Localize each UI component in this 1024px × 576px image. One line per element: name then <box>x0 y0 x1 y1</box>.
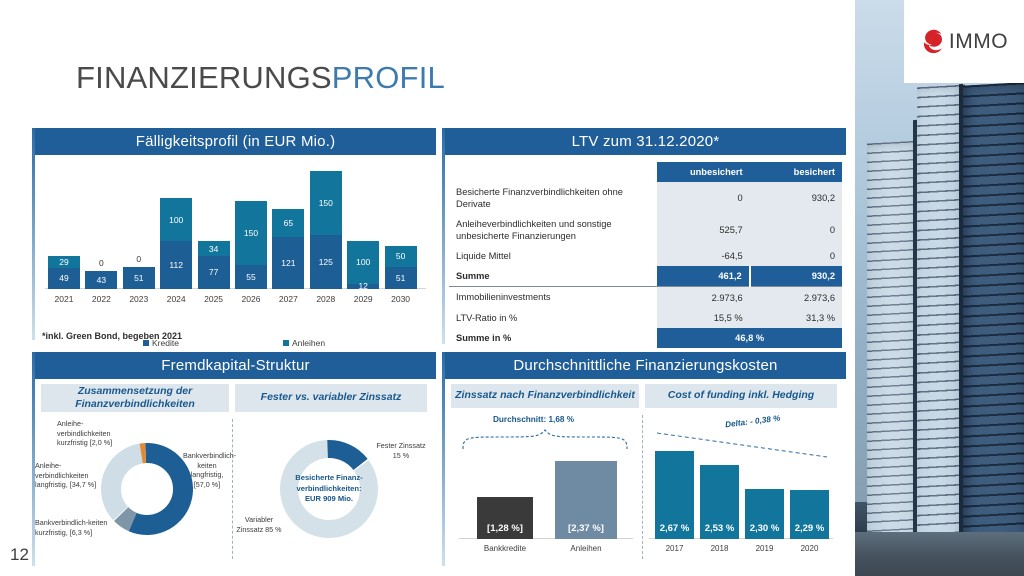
ltv-row-merged-value: 46,8 % <box>657 328 842 348</box>
bar-segment-anleihen: 65 <box>272 209 304 237</box>
ltv-cell-unbesichert: 525,7 <box>657 214 749 246</box>
bar-zero-label-anleihen: 0 <box>123 254 155 264</box>
bar-x-label: 2023 <box>123 289 155 304</box>
s-swirl-icon <box>920 28 946 56</box>
table-row: Summe in %46,8 % <box>449 328 842 348</box>
ltv-table: unbesichert besichert Besicherte Finanzv… <box>449 162 842 348</box>
maturity-bar-2021: 29492021 <box>48 256 80 289</box>
panel-fremdkapital-heading: Fremdkapital-Struktur <box>35 352 436 379</box>
bar-x-label: 2026 <box>235 289 267 304</box>
bar-x-label: 2030 <box>385 289 417 304</box>
ltv-cell-besichert: 0 <box>750 214 842 246</box>
zinssatz-bar-value: [1,28 %] <box>477 523 533 534</box>
bar-segment-kredite: 125 <box>310 235 342 289</box>
zinssatz-bar-bankkredite: [1,28 %]Bankkredite <box>477 497 533 539</box>
bar-x-label: 2021 <box>48 289 80 304</box>
cof-bar-2018: 2,53 %2018 <box>700 465 739 539</box>
cof-bar-value: 2,30 % <box>745 523 784 534</box>
cof-bar-value: 2,53 % <box>700 523 739 534</box>
bar-segment-kredite: 49 <box>48 268 80 289</box>
ltv-row-label: Summe <box>449 266 657 287</box>
bar-segment-anleihen: 100 <box>347 241 379 284</box>
cof-bar-x-label: 2017 <box>655 539 694 553</box>
panel-ltv: LTV zum 31.12.2020* unbesichert besicher… <box>442 128 846 344</box>
cof-bar-x-label: 2018 <box>700 539 739 553</box>
ltv-cell-unbesichert: 2.973,6 <box>657 287 749 308</box>
zinssatz-bar-anleihen: [2,37 %]Anleihen <box>555 461 617 539</box>
bar-x-label: 2028 <box>310 289 342 304</box>
subhead-zusammensetzung-text: Zusammensetzung der Finanzverbindlichkei… <box>45 385 225 411</box>
bar-segment-anleihen: 29 <box>48 256 80 268</box>
ltv-table-body: Besicherte Finanzverbindlichkeiten ohne … <box>449 182 842 348</box>
cof-bar-2019: 2,30 %2019 <box>745 489 784 539</box>
page-title-main: FINANZIERUNGS <box>76 60 332 95</box>
maturity-bar-2023: 0512023 <box>123 267 155 289</box>
ltv-cell-unbesichert: -64,5 <box>657 246 749 266</box>
bar-x-label: 2022 <box>85 289 117 304</box>
donut-zinssatz: Besicherte Finanz- verbindlichkeiten: EU… <box>233 415 429 565</box>
page-title: FINANZIERUNGSPROFIL <box>76 60 445 96</box>
tower-middle <box>917 85 965 576</box>
donut-label-bank-langfristig: Bankverbindlich-keiten langfristig, [57,… <box>183 451 231 490</box>
donut-center-line3: EUR 909 Mio. <box>279 494 379 505</box>
donut-center-line2: verbindlichkeiten: <box>279 484 379 495</box>
building-photo <box>855 0 1024 576</box>
cof-bar-x-label: 2019 <box>745 539 784 553</box>
maturity-bar-2025: 34772025 <box>198 241 230 289</box>
ltv-row-label: Anleiheverbindlichkeiten und sonstige un… <box>449 214 657 246</box>
cost-of-funding-bar-chart: Delta: - 0,38 % 2,67 %20172,53 %20182,30… <box>647 413 839 563</box>
ltv-cell-besichert: 2.973,6 <box>750 287 842 308</box>
maturity-bar-2030: 50512030 <box>385 246 417 289</box>
ltv-col-besichert: besichert <box>750 162 842 182</box>
ltv-row-label: Besicherte Finanzverbindlichkeiten ohne … <box>449 182 657 214</box>
bar-segment-kredite: 51 <box>385 267 417 289</box>
bar-segment-kredite: 112 <box>160 241 192 289</box>
cof-bar-value: 2,67 % <box>655 523 694 534</box>
maturity-bar-2027: 651212027 <box>272 209 304 289</box>
logo-wordmark: IMMO <box>949 30 1008 54</box>
donut-label-anleihe-langfristig: Anleihe-verbindlichkeiten langfristig, [… <box>35 461 109 490</box>
maturity-bar-chart: 2949202104320220512023100112202434772025… <box>35 155 436 311</box>
ltv-row-label: Liquide Mittel <box>449 246 657 266</box>
maturity-bar-2026: 150552026 <box>235 201 267 289</box>
ltv-col-unbesichert: unbesichert <box>657 162 749 182</box>
subhead-fester-variabler-text: Fester vs. variabler Zinssatz <box>261 391 402 404</box>
subhead-fester-variabler: Fester vs. variabler Zinssatz <box>235 384 427 412</box>
panel-ltv-heading: LTV zum 31.12.2020* <box>445 128 846 155</box>
panel-finanzierungskosten: Durchschnittliche Finanzierungskosten Zi… <box>442 352 846 566</box>
zinssatz-bar-x-label: Bankkredite <box>477 539 533 553</box>
table-row: Besicherte Finanzverbindlichkeiten ohne … <box>449 182 842 214</box>
cof-bar-x-label: 2020 <box>790 539 829 553</box>
brace-icon <box>461 429 631 451</box>
panel-fremdkapital-body: Zusammensetzung der Finanzverbindlichkei… <box>35 379 436 566</box>
donut-label-fester-zinssatz: Fester Zinssatz 15 % <box>373 441 429 460</box>
bar-segment-kredite: 121 <box>272 237 304 289</box>
subhead-cost-of-funding: Cost of funding inkl. Hedging <box>645 384 837 408</box>
table-row: Immobilieninvestments2.973,62.973,6 <box>449 287 842 308</box>
table-row: Liquide Mittel-64,50 <box>449 246 842 266</box>
donut-label-anleihe-kurzfristig: Anleihe-verbindlichkeiten kurzfristig [2… <box>57 419 129 448</box>
bar-x-label: 2025 <box>198 289 230 304</box>
panel-maturity-heading: Fälligkeitsprofil (in EUR Mio.) <box>35 128 436 155</box>
subhead-cost-of-funding-text: Cost of funding inkl. Hedging <box>668 389 814 402</box>
ltv-cell-besichert: 0 <box>750 246 842 266</box>
zinssatz-bar-value: [2,37 %] <box>555 523 617 534</box>
legend-item-anleihen: Anleihen <box>283 338 325 348</box>
ltv-cell-besichert: 930,2 <box>750 182 842 214</box>
donut-center-label: Besicherte Finanz- verbindlichkeiten: EU… <box>279 473 379 505</box>
panel-kosten-body: Zinssatz nach Finanzverbindlichkeit Cost… <box>445 379 846 566</box>
panel-maturity-profile: Fälligkeitsprofil (in EUR Mio.) 29492021… <box>32 128 436 340</box>
bar-segment-kredite: 43 <box>85 271 117 289</box>
panel-kosten-heading: Durchschnittliche Finanzierungskosten <box>445 352 846 379</box>
donut-center-line1: Besicherte Finanz- <box>279 473 379 484</box>
legend-label-anleihen: Anleihen <box>292 338 325 348</box>
table-row: Summe461,2930,2 <box>449 266 842 287</box>
panel-fremdkapital: Fremdkapital-Struktur Zusammensetzung de… <box>32 352 436 566</box>
bar-x-label: 2029 <box>347 289 379 304</box>
panel-maturity-body: 2949202104320220512023100112202434772025… <box>35 155 436 340</box>
bar-x-label: 2024 <box>160 289 192 304</box>
panel-ltv-body: unbesichert besichert Besicherte Finanzv… <box>445 155 846 362</box>
cof-bar-value: 2,29 % <box>790 523 829 534</box>
table-header-row: unbesichert besichert <box>449 162 842 182</box>
bar-x-label: 2027 <box>272 289 304 304</box>
maturity-bar-2028: 1501252028 <box>310 171 342 289</box>
maturity-bar-2029: 100122029 <box>347 241 379 289</box>
page-title-accent: PROFIL <box>332 60 445 95</box>
table-row: LTV-Ratio in %15,5 %31,3 % <box>449 308 842 328</box>
donut-label-variabler-zinssatz: Variabler Zinssatz 85 % <box>235 515 283 534</box>
zinssatz-annotation: Durchschnitt: 1,68 % <box>493 415 574 424</box>
cof-bar-2017: 2,67 %2017 <box>655 451 694 539</box>
bar-segment-anleihen: 150 <box>310 171 342 235</box>
kosten-divider <box>642 415 643 559</box>
ltv-row-label: LTV-Ratio in % <box>449 308 657 328</box>
bar-segment-anleihen: 34 <box>198 241 230 256</box>
ltv-row-label: Immobilieninvestments <box>449 287 657 308</box>
slide-root: IMMO FINANZIERUNGSPROFIL 12 Fälligkeitsp… <box>0 0 1024 576</box>
page-number: 12 <box>10 545 29 565</box>
ltv-row-label: Summe in % <box>449 328 657 348</box>
bar-segment-kredite: 55 <box>235 265 267 289</box>
ltv-cell-unbesichert: 461,2 <box>657 266 749 287</box>
bar-segment-kredite: 51 <box>123 267 155 289</box>
bar-segment-kredite: 77 <box>198 256 230 289</box>
ltv-cell-besichert: 930,2 <box>750 266 842 287</box>
ltv-cell-besichert: 31,3 % <box>750 308 842 328</box>
maturity-footnote: *inkl. Green Bond, begeben 2021 <box>42 331 182 341</box>
tower-right <box>963 82 1024 576</box>
legend-swatch-anleihen <box>283 340 289 346</box>
donut-finanzverbindlichkeiten: Anleihe-verbindlichkeiten kurzfristig [2… <box>35 415 232 565</box>
ground-strip <box>855 532 1024 576</box>
ltv-table-head: unbesichert besichert <box>449 162 842 182</box>
zinssatz-bar-x-label: Anleihen <box>555 539 617 553</box>
bar-zero-label-anleihen: 0 <box>85 258 117 268</box>
subhead-zinssatz: Zinssatz nach Finanzverbindlichkeit <box>451 384 639 408</box>
ltv-cell-unbesichert: 15,5 % <box>657 308 749 328</box>
table-row: Anleiheverbindlichkeiten und sonstige un… <box>449 214 842 246</box>
bar-segment-anleihen: 150 <box>235 201 267 265</box>
bar-segment-anleihen: 50 <box>385 246 417 267</box>
donut-label-bank-kurzfristig: Bankverbindlich-keiten kurzfristig, [6,3… <box>35 518 111 537</box>
bar-segment-anleihen: 100 <box>160 198 192 241</box>
cof-bar-2020: 2,29 %2020 <box>790 490 829 539</box>
cof-annotation: Delta: - 0,38 % <box>725 414 781 430</box>
ltv-col-blank <box>449 162 657 182</box>
maturity-bar-2022: 0432022 <box>85 271 117 289</box>
maturity-bar-2024: 1001122024 <box>160 198 192 289</box>
subhead-zusammensetzung: Zusammensetzung der Finanzverbindlichkei… <box>41 384 229 412</box>
ltv-cell-unbesichert: 0 <box>657 182 749 214</box>
logo: IMMO <box>904 0 1024 83</box>
zinssatz-bar-chart: Durchschnitt: 1,68 % [1,28 %]Bankkredite… <box>451 413 639 563</box>
subhead-zinssatz-text: Zinssatz nach Finanzverbindlichkeit <box>455 389 635 402</box>
